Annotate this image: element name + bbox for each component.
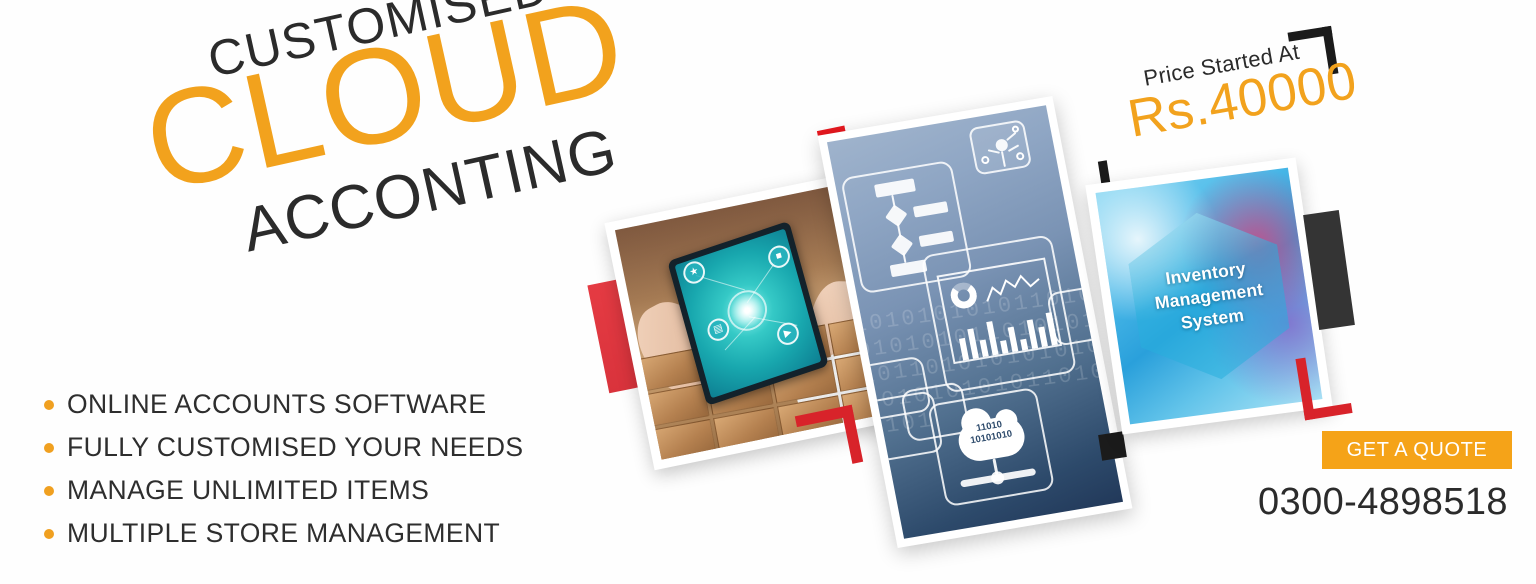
inventory-management-panel: Inventory Management System [1085,158,1332,435]
dashboard-panel: 1010101010110101010101011010101010110101… [818,96,1133,548]
bar [1027,319,1038,348]
accent-black-square [1098,431,1127,461]
cart-node-icon: ★ [681,258,708,286]
bar [1008,327,1019,353]
card-node-icon: ▤ [705,315,732,343]
network-node-icon [968,119,1032,175]
promo-banner: CUSTOMISED CLOUD ACCONTING ONLINE ACCOUN… [0,0,1536,584]
ims-text-wrap: Inventory Management System [1096,168,1323,425]
ims-graphic: Inventory Management System [1096,168,1323,425]
bar [959,338,969,361]
bar [1020,339,1028,351]
ims-title: Inventory Management System [1150,255,1268,337]
network-link [1001,151,1006,167]
network-satellite [1015,152,1024,161]
play-node-icon: ▶ [775,319,802,347]
network-link [1008,144,1019,152]
accent-red-corner-bracket-right [1295,352,1352,421]
bar [967,328,979,358]
network-satellite [981,155,990,164]
accent-red-corner-bracket [795,405,863,473]
dashboard-graphic: 1010101010110101010101011010101010110101… [827,105,1123,539]
bar [1038,327,1048,348]
phone-number[interactable]: 0300-4898518 [1258,481,1508,524]
chart-frame [936,257,1062,364]
book-node-icon: ■ [766,242,793,270]
network-link [1006,132,1016,141]
line-chart-icon [982,271,1044,306]
bar [1000,340,1008,354]
bar [980,339,989,357]
get-a-quote-button[interactable]: GET A QUOTE [1322,431,1512,469]
pie-chart-icon [948,281,979,311]
tablet-core-glow-icon [723,285,772,336]
bar [986,321,998,355]
